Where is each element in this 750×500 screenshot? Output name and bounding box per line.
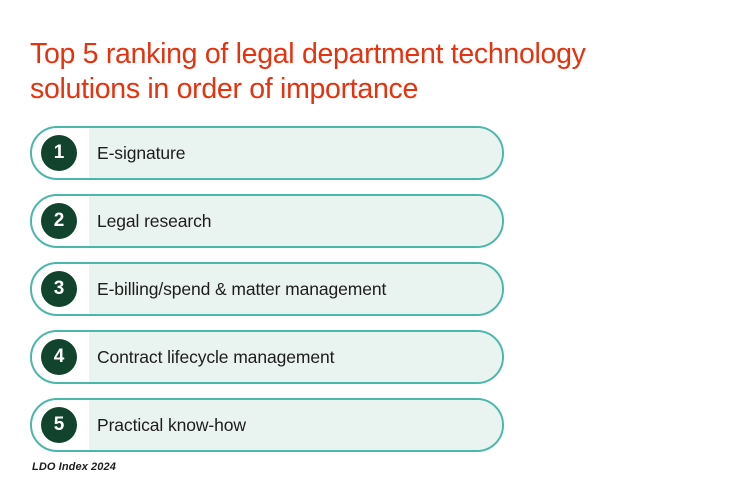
source-caption: LDO Index 2024 — [32, 461, 116, 473]
rank-label-4: Contract lifecycle management — [97, 346, 334, 368]
rank-label-1: E-signature — [97, 142, 185, 164]
rank-badge-2: 2 — [41, 203, 77, 239]
rank-badge-4: 4 — [41, 339, 77, 375]
rank-badge-3: 3 — [41, 271, 77, 307]
ranking-row-2: 2 Legal research — [30, 194, 504, 248]
rank-label-3: E-billing/spend & matter management — [97, 278, 386, 300]
ranking-row-3: 3 E-billing/spend & matter management — [30, 262, 504, 316]
ranking-row-4: 4 Contract lifecycle management — [30, 330, 504, 384]
rank-badge-5: 5 — [41, 407, 77, 443]
ranking-row-1: 1 E-signature — [30, 126, 504, 180]
rank-badge-1: 1 — [41, 135, 77, 171]
page-title: Top 5 ranking of legal department techno… — [30, 37, 730, 107]
ranking-list: 1 E-signature 2 Legal research 3 E-billi… — [30, 126, 504, 452]
rank-label-2: Legal research — [97, 210, 211, 232]
ranking-row-5: 5 Practical know-how — [30, 398, 504, 452]
rank-label-5: Practical know-how — [97, 414, 246, 436]
ranking-infographic: Top 5 ranking of legal department techno… — [0, 0, 750, 500]
